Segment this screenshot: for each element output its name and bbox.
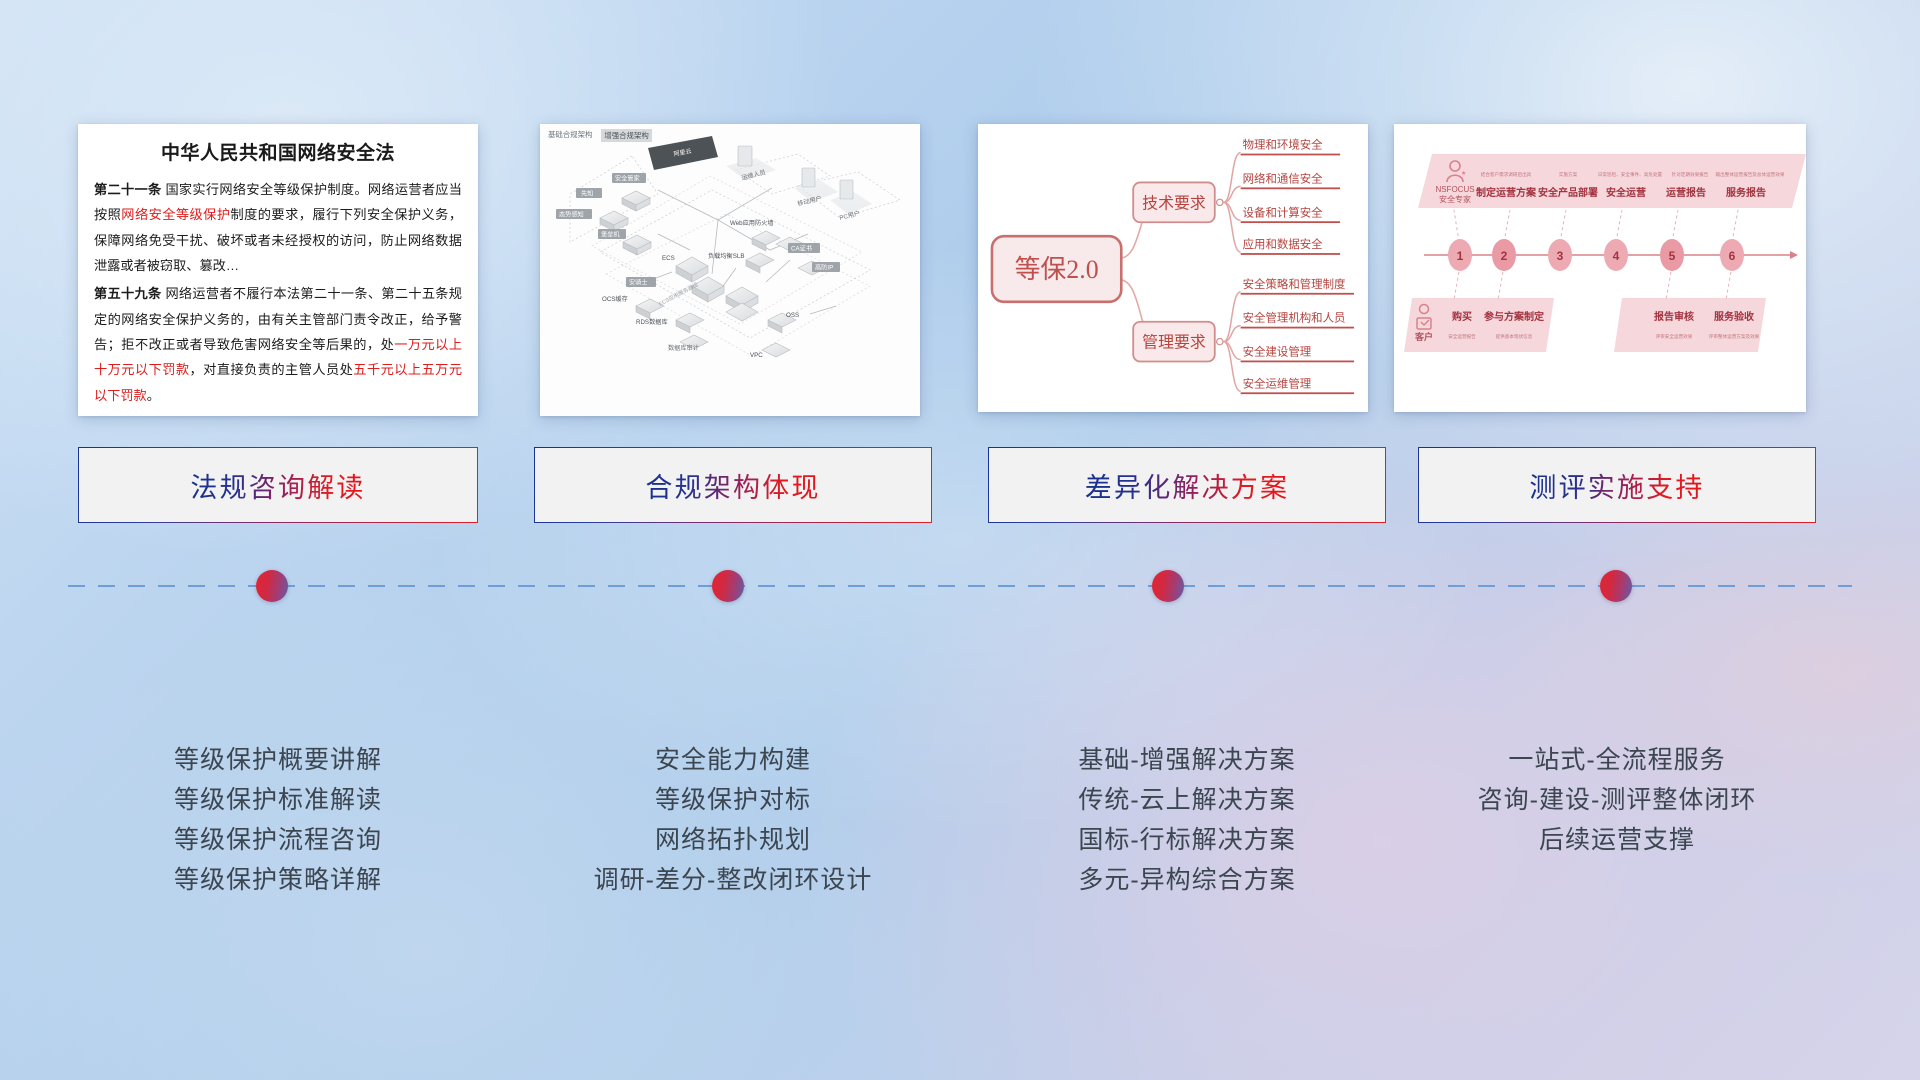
svg-text:日常巡检、安全事件、高危处置: 日常巡检、安全事件、高危处置: [1598, 171, 1663, 178]
svg-text:安全管家: 安全管家: [615, 175, 640, 183]
feature-column-1: 等级保护概要讲解 等级保护标准解读 等级保护流程咨询 等级保护策略详解: [78, 740, 478, 900]
svg-text:ECS: ECS: [662, 255, 675, 262]
svg-text:评审安全运营效果: 评审安全运营效果: [1656, 333, 1693, 340]
svg-text:安全产品部署: 安全产品部署: [1538, 186, 1598, 199]
svg-text:安全管理机构和人员: 安全管理机构和人员: [1243, 311, 1346, 325]
header-label-4: 测评实施支持: [1529, 466, 1704, 505]
svg-text:设备和计算安全: 设备和计算安全: [1243, 205, 1324, 219]
article-59-number: 第五十九条: [94, 286, 161, 301]
svg-text:1: 1: [1457, 249, 1464, 263]
svg-text:针对定期效果报告: 针对定期效果报告: [1672, 171, 1709, 178]
svg-text:物理和环境安全: 物理和环境安全: [1243, 138, 1324, 152]
svg-text:安全建设管理: 安全建设管理: [1243, 345, 1312, 359]
card-mindmap-dengbao[interactable]: 等保2.0 技术要求 物理和环境安全 网络和通信安全: [978, 124, 1368, 412]
process-diagram: ★ NSFOCUS 安全专家 客户: [1394, 124, 1806, 412]
mindmap-branch-technical: 技术要求 物理和环境安全 网络和通信安全 设备和计算安全 应用和数据安全: [1133, 138, 1340, 255]
list-item: 国标-行标解决方案: [988, 820, 1386, 860]
svg-text:报告审核: 报告审核: [1654, 310, 1694, 323]
process-top-ribbon: [1418, 154, 1806, 208]
svg-text:技术要求: 技术要求: [1142, 194, 1206, 212]
svg-text:购买: 购买: [1452, 310, 1472, 323]
list-item: 安全能力构建: [534, 740, 932, 780]
expert-star-icon: ★: [1461, 170, 1466, 177]
svg-text:VPC: VPC: [750, 352, 763, 359]
svg-text:CA证书: CA证书: [791, 245, 812, 253]
svg-text:3: 3: [1557, 249, 1564, 263]
svg-text:安全运维管理: 安全运维管理: [1243, 376, 1312, 390]
list-item: 等级保护流程咨询: [78, 820, 478, 860]
svg-text:6: 6: [1729, 249, 1736, 263]
svg-text:结合客户需求调研后出具: 结合客户需求调研后出具: [1481, 171, 1532, 178]
header-label-1: 法规咨询解读: [190, 466, 365, 505]
svg-text:安全运营: 安全运营: [1606, 186, 1646, 199]
timeline-dot-4[interactable]: [1600, 570, 1632, 602]
svg-text:数据库审计: 数据库审计: [668, 344, 699, 352]
svg-text:等保2.0: 等保2.0: [1015, 255, 1099, 284]
list-item: 传统-云上解决方案: [988, 780, 1386, 820]
process-canvas: ★ NSFOCUS 安全专家 客户: [1394, 124, 1806, 412]
mindmap-root: 等保2.0: [992, 236, 1121, 302]
svg-text:实施方案: 实施方案: [1559, 171, 1578, 178]
timeline-dot-2[interactable]: [712, 570, 744, 602]
svg-text:堡垒机: 堡垒机: [601, 231, 620, 239]
timeline: [0, 566, 1920, 606]
article-59-text-c: 。: [147, 388, 160, 403]
list-item: 多元-异构综合方案: [988, 860, 1386, 900]
law-document: 中华人民共和国网络安全法 第二十一条 国家实行网络安全等级保护制度。网络运营者应…: [78, 124, 478, 416]
timeline-dot-3[interactable]: [1152, 570, 1184, 602]
svg-text:负载均衡SLB: 负载均衡SLB: [708, 252, 744, 260]
svg-text:4: 4: [1613, 249, 1620, 263]
list-item: 等级保护对标: [534, 780, 932, 820]
list-item: 咨询-建设-测评整体闭环: [1418, 780, 1816, 820]
card-cybersecurity-law[interactable]: 中华人民共和国网络安全法 第二十一条 国家实行网络安全等级保护制度。网络运营者应…: [78, 124, 478, 416]
svg-text:Web应用防火墙: Web应用防火墙: [730, 219, 774, 227]
process-bottom-ribbon-right: [1614, 298, 1766, 352]
list-item: 基础-增强解决方案: [988, 740, 1386, 780]
svg-text:RDS数据库: RDS数据库: [636, 318, 668, 326]
list-item: 后续运营支撑: [1418, 820, 1816, 860]
svg-text:态势感知: 态势感知: [559, 211, 584, 219]
timeline-dashed-line: [68, 585, 1852, 587]
svg-text:网络和通信安全: 网络和通信安全: [1243, 171, 1324, 185]
architecture-diagram: 基础合规架构 增强合规架构: [540, 124, 920, 416]
svg-text:输出整体运营报告及总体运营效果: 输出整体运营报告及总体运营效果: [1716, 171, 1785, 178]
mindmap-branch-management: 管理要求 安全策略和管理制度 安全管理机构和人员 安全建设管理 安全运维管理: [1133, 277, 1354, 394]
svg-text:OCS缓存: OCS缓存: [602, 295, 628, 303]
list-item: 网络拓扑规划: [534, 820, 932, 860]
svg-text:先知: 先知: [581, 190, 593, 198]
svg-text:服务报告: 服务报告: [1726, 186, 1766, 199]
svg-text:服务验收: 服务验收: [1714, 310, 1754, 323]
svg-text:安全运营报告: 安全运营报告: [1448, 333, 1476, 340]
law-article-59: 第五十九条 网络运营者不履行本法第二十一条、第二十五条规定的网络安全保护义务的，…: [94, 281, 462, 408]
list-item: 等级保护标准解读: [78, 780, 478, 820]
mindmap-canvas: 等保2.0 技术要求 物理和环境安全 网络和通信安全: [984, 130, 1362, 406]
svg-text:OSS: OSS: [786, 312, 799, 319]
svg-text:安全策略和管理制度: 安全策略和管理制度: [1243, 277, 1346, 291]
svg-text:5: 5: [1669, 249, 1676, 263]
header-label-3: 差异化解决方案: [1085, 466, 1289, 505]
feature-column-3: 基础-增强解决方案 传统-云上解决方案 国标-行标解决方案 多元-异构综合方案: [988, 740, 1386, 900]
svg-text:评审整体运营方案及效果: 评审整体运营方案及效果: [1709, 333, 1760, 340]
svg-text:安骑士: 安骑士: [629, 279, 648, 287]
feature-columns-row: 等级保护概要讲解 等级保护标准解读 等级保护流程咨询 等级保护策略详解 安全能力…: [0, 740, 1920, 960]
svg-text:高防IP: 高防IP: [815, 264, 833, 272]
architecture-cloud-banner: 阿里云: [648, 136, 718, 170]
list-item: 等级保护概要讲解: [78, 740, 478, 780]
svg-text:运营报告: 运营报告: [1666, 186, 1706, 199]
article-59-text-b: ，对直接负责的主管人员处: [190, 362, 354, 377]
article-21-highlight: 网络安全等级保护: [121, 207, 230, 222]
timeline-dot-1[interactable]: [256, 570, 288, 602]
mindmap-diagram: 等保2.0 技术要求 物理和环境安全 网络和通信安全: [978, 124, 1368, 412]
svg-text:管理要求: 管理要求: [1142, 334, 1206, 352]
law-article-21: 第二十一条 国家实行网络安全等级保护制度。网络运营者应当按照网络安全等级保护制度…: [94, 177, 462, 278]
architecture-canvas: 阿里云: [540, 124, 920, 416]
svg-text:安全专家: 安全专家: [1439, 194, 1471, 204]
list-item: 调研-差分-整改闭环设计: [534, 860, 932, 900]
header-box-assessment-support[interactable]: 测评实施支持: [1418, 447, 1816, 523]
article-21-number: 第二十一条: [94, 182, 161, 197]
list-item: 一站式-全流程服务: [1418, 740, 1816, 780]
svg-text:2: 2: [1501, 249, 1508, 263]
header-label-2: 合规架构体现: [645, 466, 820, 505]
svg-text:应用和数据安全: 应用和数据安全: [1243, 237, 1324, 251]
law-title: 中华人民共和国网络安全法: [94, 138, 462, 165]
card-compliance-architecture[interactable]: 基础合规架构 增强合规架构: [540, 124, 920, 416]
svg-text:提供基本现状信息: 提供基本现状信息: [1496, 333, 1533, 340]
header-box-compliance-architecture[interactable]: 合规架构体现: [534, 447, 932, 523]
svg-text:制定运营方案: 制定运营方案: [1476, 186, 1537, 199]
section-headers-row: 法规咨询解读 合规架构体现 差异化解决方案 测评实施支持: [0, 447, 1920, 523]
svg-text:参与方案制定: 参与方案制定: [1484, 310, 1544, 323]
feature-column-2: 安全能力构建 等级保护对标 网络拓扑规划 调研-差分-整改闭环设计: [534, 740, 932, 900]
header-box-regulation-consulting[interactable]: 法规咨询解读: [78, 447, 478, 523]
svg-text:客户: 客户: [1414, 331, 1433, 342]
header-box-differentiated-solutions[interactable]: 差异化解决方案: [988, 447, 1386, 523]
card-service-process[interactable]: ★ NSFOCUS 安全专家 客户: [1394, 124, 1806, 412]
preview-cards-row: 中华人民共和国网络安全法 第二十一条 国家实行网络安全等级保护制度。网络运营者应…: [0, 124, 1920, 434]
feature-column-4: 一站式-全流程服务 咨询-建设-测评整体闭环 后续运营支撑: [1418, 740, 1816, 860]
list-item: 等级保护策略详解: [78, 860, 478, 900]
svg-text:NSFOCUS: NSFOCUS: [1435, 185, 1474, 194]
